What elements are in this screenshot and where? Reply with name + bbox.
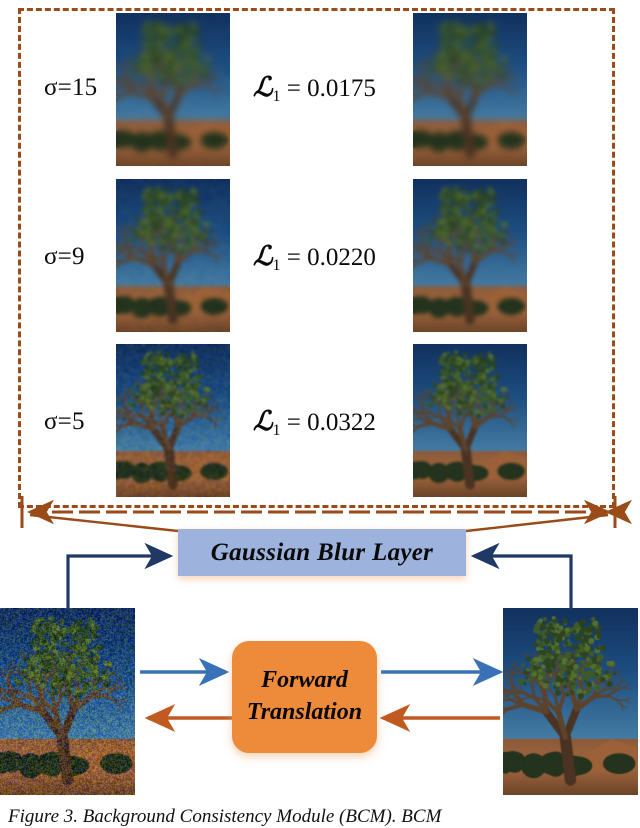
loss-label-row-3: ℒ1 = 0.0322 <box>253 406 376 440</box>
sigma-label-row-2: σ=9 <box>44 243 85 271</box>
blurred-noisy-thumb-row-1 <box>116 13 230 166</box>
loss-value-row-3: 0.0322 <box>307 409 376 436</box>
blurred-noisy-thumb-row-3 <box>116 344 230 497</box>
loss-symbol-row-1: ℒ <box>253 72 272 102</box>
figure-canvas: σ=15 ℒ1 = 0.0175 σ=9 ℒ1 = 0.0220 σ=5 ℒ1 … <box>0 0 640 825</box>
blurred-clean-thumb-row-2 <box>413 179 527 332</box>
forward-translation-label-line2: Translation <box>247 697 362 729</box>
blurred-clean-thumb-row-3 <box>413 344 527 497</box>
gaussian-blur-layer-box: Gaussian Blur Layer <box>178 529 466 576</box>
noisy-input-photo <box>0 608 135 795</box>
forward-translation-box: Forward Translation <box>232 641 377 753</box>
blurred-clean-thumb-row-1 <box>413 13 527 166</box>
loss-subscript-row-3: 1 <box>272 422 280 439</box>
loss-value-row-2: 0.0220 <box>307 244 376 271</box>
sigma-label-row-1: σ=15 <box>44 74 97 102</box>
forward-translation-label-line1: Forward <box>261 665 348 697</box>
loss-label-row-2: ℒ1 = 0.0220 <box>253 241 376 275</box>
loss-subscript-row-2: 1 <box>272 257 280 274</box>
loss-equals-row-2: = <box>287 244 301 271</box>
loss-subscript-row-1: 1 <box>272 88 280 105</box>
loss-value-row-1: 0.0175 <box>307 75 376 102</box>
loss-equals-row-1: = <box>287 75 301 102</box>
loss-equals-row-3: = <box>287 409 301 436</box>
gaussian-blur-layer-label: Gaussian Blur Layer <box>211 539 433 567</box>
clean-target-photo <box>503 608 638 795</box>
blurred-noisy-thumb-row-2 <box>116 179 230 332</box>
loss-symbol-row-3: ℒ <box>253 406 272 436</box>
loss-label-row-1: ℒ1 = 0.0175 <box>253 72 376 106</box>
loss-symbol-row-2: ℒ <box>253 241 272 271</box>
sigma-label-row-3: σ=5 <box>44 408 85 436</box>
